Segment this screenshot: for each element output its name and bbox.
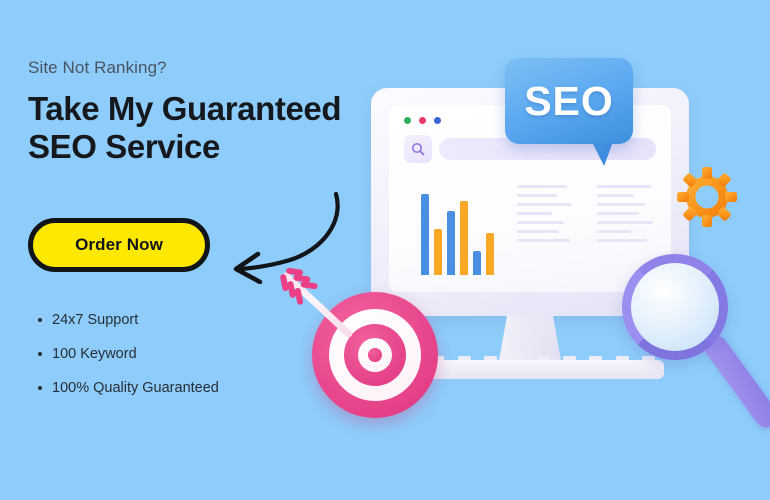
copy-block: Site Not Ranking? Take My Guaranteed SEO… [28, 58, 388, 167]
placeholder-line [597, 230, 631, 233]
speech-bubble-box: SEO [505, 58, 633, 144]
feature-list: 24x7 Support 100 Keyword 100% Quality Gu… [38, 312, 338, 414]
placeholder-line [517, 230, 559, 233]
chart-bar-5 [473, 251, 481, 275]
seo-label: SEO [524, 78, 614, 125]
placeholder-column-left [517, 185, 577, 242]
eyebrow-text: Site Not Ranking? [28, 58, 388, 78]
feature-label: 100% Quality Guaranteed [52, 380, 219, 396]
placeholder-line [597, 203, 645, 206]
placeholder-line [517, 194, 557, 197]
feature-label: 100 Keyword [52, 346, 137, 362]
curved-arrow-icon [218, 188, 348, 284]
window-dot-green [404, 117, 411, 124]
placeholder-line [597, 185, 651, 188]
dartboard-bullseye [368, 348, 382, 362]
list-item: 100% Quality Guaranteed [38, 380, 338, 396]
chart-bar-4 [460, 201, 468, 275]
window-dot-red [419, 117, 426, 124]
chart-bar-6 [486, 233, 494, 275]
cta-wrapper: Order Now [28, 218, 210, 272]
list-item: 100 Keyword [38, 346, 338, 362]
bullet-icon [38, 318, 42, 322]
gear-icon [676, 166, 738, 228]
ground-gradient [0, 440, 770, 500]
magnifier-handle [700, 331, 770, 432]
search-icon[interactable] [404, 135, 432, 163]
order-now-button[interactable]: Order Now [28, 218, 210, 272]
placeholder-column-right [597, 185, 657, 242]
placeholder-line [517, 221, 564, 224]
placeholder-line [517, 239, 570, 242]
bullet-icon [38, 386, 42, 390]
placeholder-line [597, 221, 653, 224]
chart-bar-2 [434, 229, 442, 275]
dartboard-icon [312, 292, 438, 418]
bar-chart [421, 183, 501, 275]
placeholder-line [517, 203, 572, 206]
window-dot-blue [434, 117, 441, 124]
magnifier-icon [620, 250, 770, 445]
placeholder-line [597, 239, 647, 242]
arrow-fletching [294, 287, 303, 305]
seo-service-banner: Site Not Ranking? Take My Guaranteed SEO… [0, 0, 770, 500]
placeholder-line [517, 212, 552, 215]
chart-bar-1 [421, 194, 429, 275]
page-title: Take My Guaranteed SEO Service [28, 90, 388, 167]
magnifier-lens [622, 254, 728, 360]
arrow-fletching [300, 281, 318, 289]
placeholder-text-block [517, 185, 657, 242]
seo-speech-bubble: SEO [505, 58, 633, 144]
bullet-icon [38, 352, 42, 356]
list-item: 24x7 Support [38, 312, 338, 328]
placeholder-line [597, 194, 634, 197]
placeholder-line [517, 185, 567, 188]
headline-line-2: SEO Service [28, 128, 388, 166]
placeholder-line [597, 212, 639, 215]
chart-bar-3 [447, 211, 455, 275]
window-dots [404, 117, 441, 124]
headline-line-1: Take My Guaranteed [28, 90, 341, 127]
feature-label: 24x7 Support [52, 312, 138, 328]
